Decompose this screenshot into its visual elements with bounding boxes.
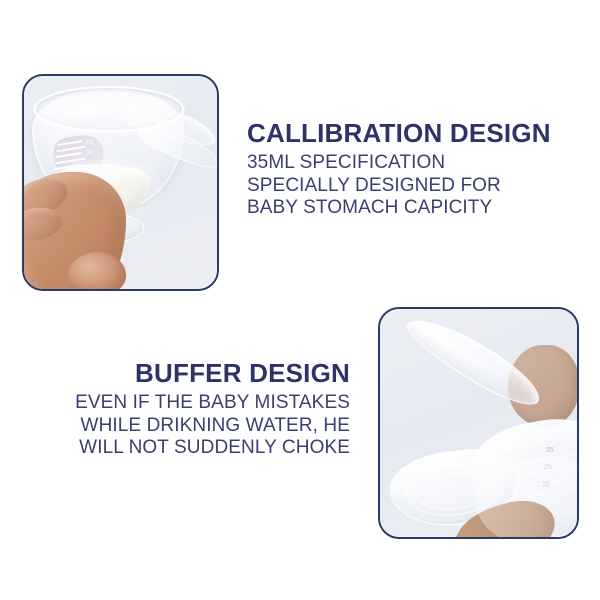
calibration-scale-label: ML bbox=[86, 140, 95, 146]
photo-backdrop-calibration: ML 30 20 bbox=[24, 76, 217, 289]
feature-image-calibration: ML 30 20 bbox=[22, 74, 219, 291]
feature-image-buffer: 35 25 15 bbox=[378, 307, 579, 539]
buffer-body-line-2: WHILE DRIKNING WATER, HE bbox=[60, 415, 350, 438]
calibration-body-line-1: 35ML SPECIFICATION bbox=[247, 152, 551, 175]
calibration-body-line-3: BABY STOMACH CAPICITY bbox=[247, 197, 551, 220]
buffer-body-line-1: EVEN IF THE BABY MISTAKES bbox=[60, 392, 350, 415]
feature-text-buffer: BUFFER DESIGN EVEN IF THE BABY MISTAKES … bbox=[60, 358, 350, 460]
calibration-headline: CALLIBRATION DESIGN bbox=[247, 118, 551, 148]
product-infographic: ML 30 20 CALLIBRATION DESIGN 35ML SPECIF… bbox=[0, 0, 600, 600]
calibration-body-line-2: SPECIALLY DESIGNED FOR bbox=[247, 175, 551, 198]
cup-scale-label: 35 bbox=[546, 447, 554, 454]
buffer-headline: BUFFER DESIGN bbox=[60, 358, 350, 388]
buffer-body-line-3: WILL NOT SUDDENLY CHOKE bbox=[60, 437, 350, 460]
calibration-scale-label: 30 bbox=[86, 150, 93, 156]
thumb bbox=[68, 252, 126, 291]
photo-backdrop-buffer: 35 25 15 bbox=[380, 309, 577, 537]
feature-text-calibration: CALLIBRATION DESIGN 35ML SPECIFICATION S… bbox=[247, 118, 551, 220]
